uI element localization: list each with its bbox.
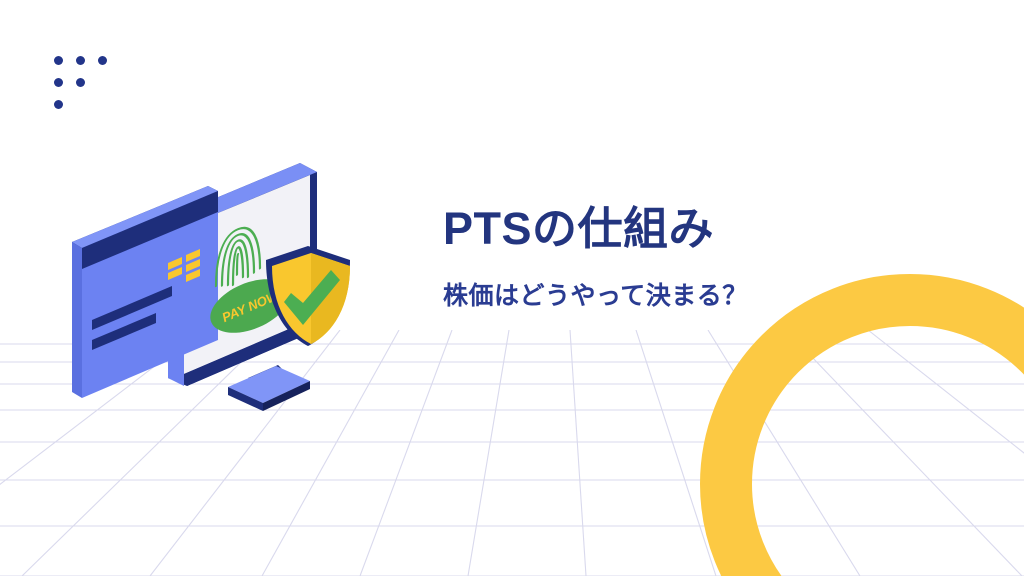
dot	[54, 100, 63, 109]
card-left-edge	[72, 242, 82, 398]
dot	[76, 56, 85, 65]
dot-triangle	[50, 50, 116, 116]
monitor-stand	[228, 365, 310, 411]
dot	[54, 56, 63, 65]
dot	[54, 78, 63, 87]
page-subtitle: 株価はどうやって決まる？	[443, 276, 863, 312]
secure-online-payment-illustration: PAY NOW	[60, 150, 360, 420]
dot	[76, 78, 85, 87]
slide-text-block: PTSの仕組み 株価はどうやって決まる？	[443, 205, 863, 312]
page-title: PTSの仕組み	[443, 205, 863, 252]
dot	[98, 56, 107, 65]
slide-canvas: PAY NOW PTSの仕組み 株価はどうやって決まる？	[0, 0, 1024, 576]
yellow-quarter-ring	[700, 274, 1024, 576]
